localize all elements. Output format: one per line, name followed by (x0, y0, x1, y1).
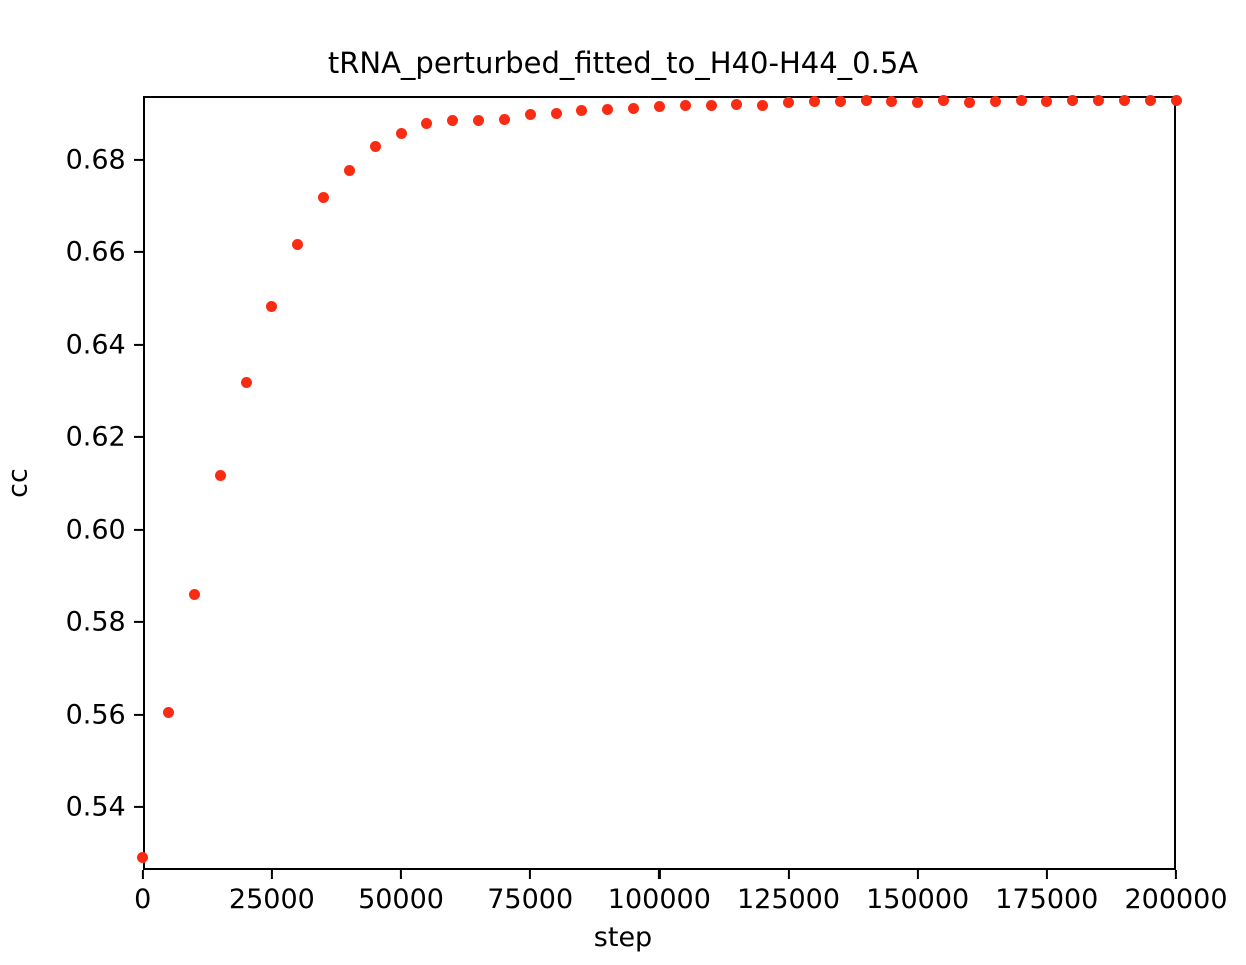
y-tick-mark (134, 714, 143, 716)
x-tick-label: 100000 (608, 884, 711, 915)
x-tick-mark (271, 870, 273, 879)
y-tick-mark (134, 159, 143, 161)
x-tick-mark (658, 870, 660, 879)
x-tick-label: 50000 (358, 884, 444, 915)
x-tick-mark (1046, 870, 1048, 879)
x-tick-label: 25000 (229, 884, 315, 915)
x-tick-label: 175000 (995, 884, 1098, 915)
y-tick-mark (134, 621, 143, 623)
x-tick-mark (917, 870, 919, 879)
y-tick-label: 0.60 (66, 514, 126, 545)
chart-figure: tRNA_perturbed_fitted_to_H40-H44_0.5A cc… (0, 0, 1246, 965)
y-tick-mark (134, 806, 143, 808)
y-tick-label: 0.68 (66, 144, 126, 175)
y-tick-label: 0.62 (66, 422, 126, 453)
y-tick-mark (134, 251, 143, 253)
x-tick-mark (787, 870, 789, 879)
x-tick-mark (142, 870, 144, 879)
y-tick-mark (134, 529, 143, 531)
x-tick-label: 150000 (866, 884, 969, 915)
y-tick-label: 0.64 (66, 329, 126, 360)
x-tick-mark (1175, 870, 1177, 879)
x-tick-label: 75000 (487, 884, 573, 915)
x-axis-label: step (0, 922, 1246, 953)
y-tick-label: 0.58 (66, 607, 126, 638)
x-tick-label: 200000 (1124, 884, 1227, 915)
x-tick-label: 125000 (737, 884, 840, 915)
y-tick-mark (134, 344, 143, 346)
plot-area (143, 96, 1176, 870)
y-tick-label: 0.56 (66, 699, 126, 730)
y-tick-label: 0.66 (66, 237, 126, 268)
y-tick-label: 0.54 (66, 792, 126, 823)
y-tick-mark (134, 436, 143, 438)
chart-title: tRNA_perturbed_fitted_to_H40-H44_0.5A (0, 46, 1246, 80)
x-tick-mark (400, 870, 402, 879)
x-tick-mark (529, 870, 531, 879)
x-tick-label: 0 (134, 884, 151, 915)
y-axis-label: cc (3, 468, 34, 498)
